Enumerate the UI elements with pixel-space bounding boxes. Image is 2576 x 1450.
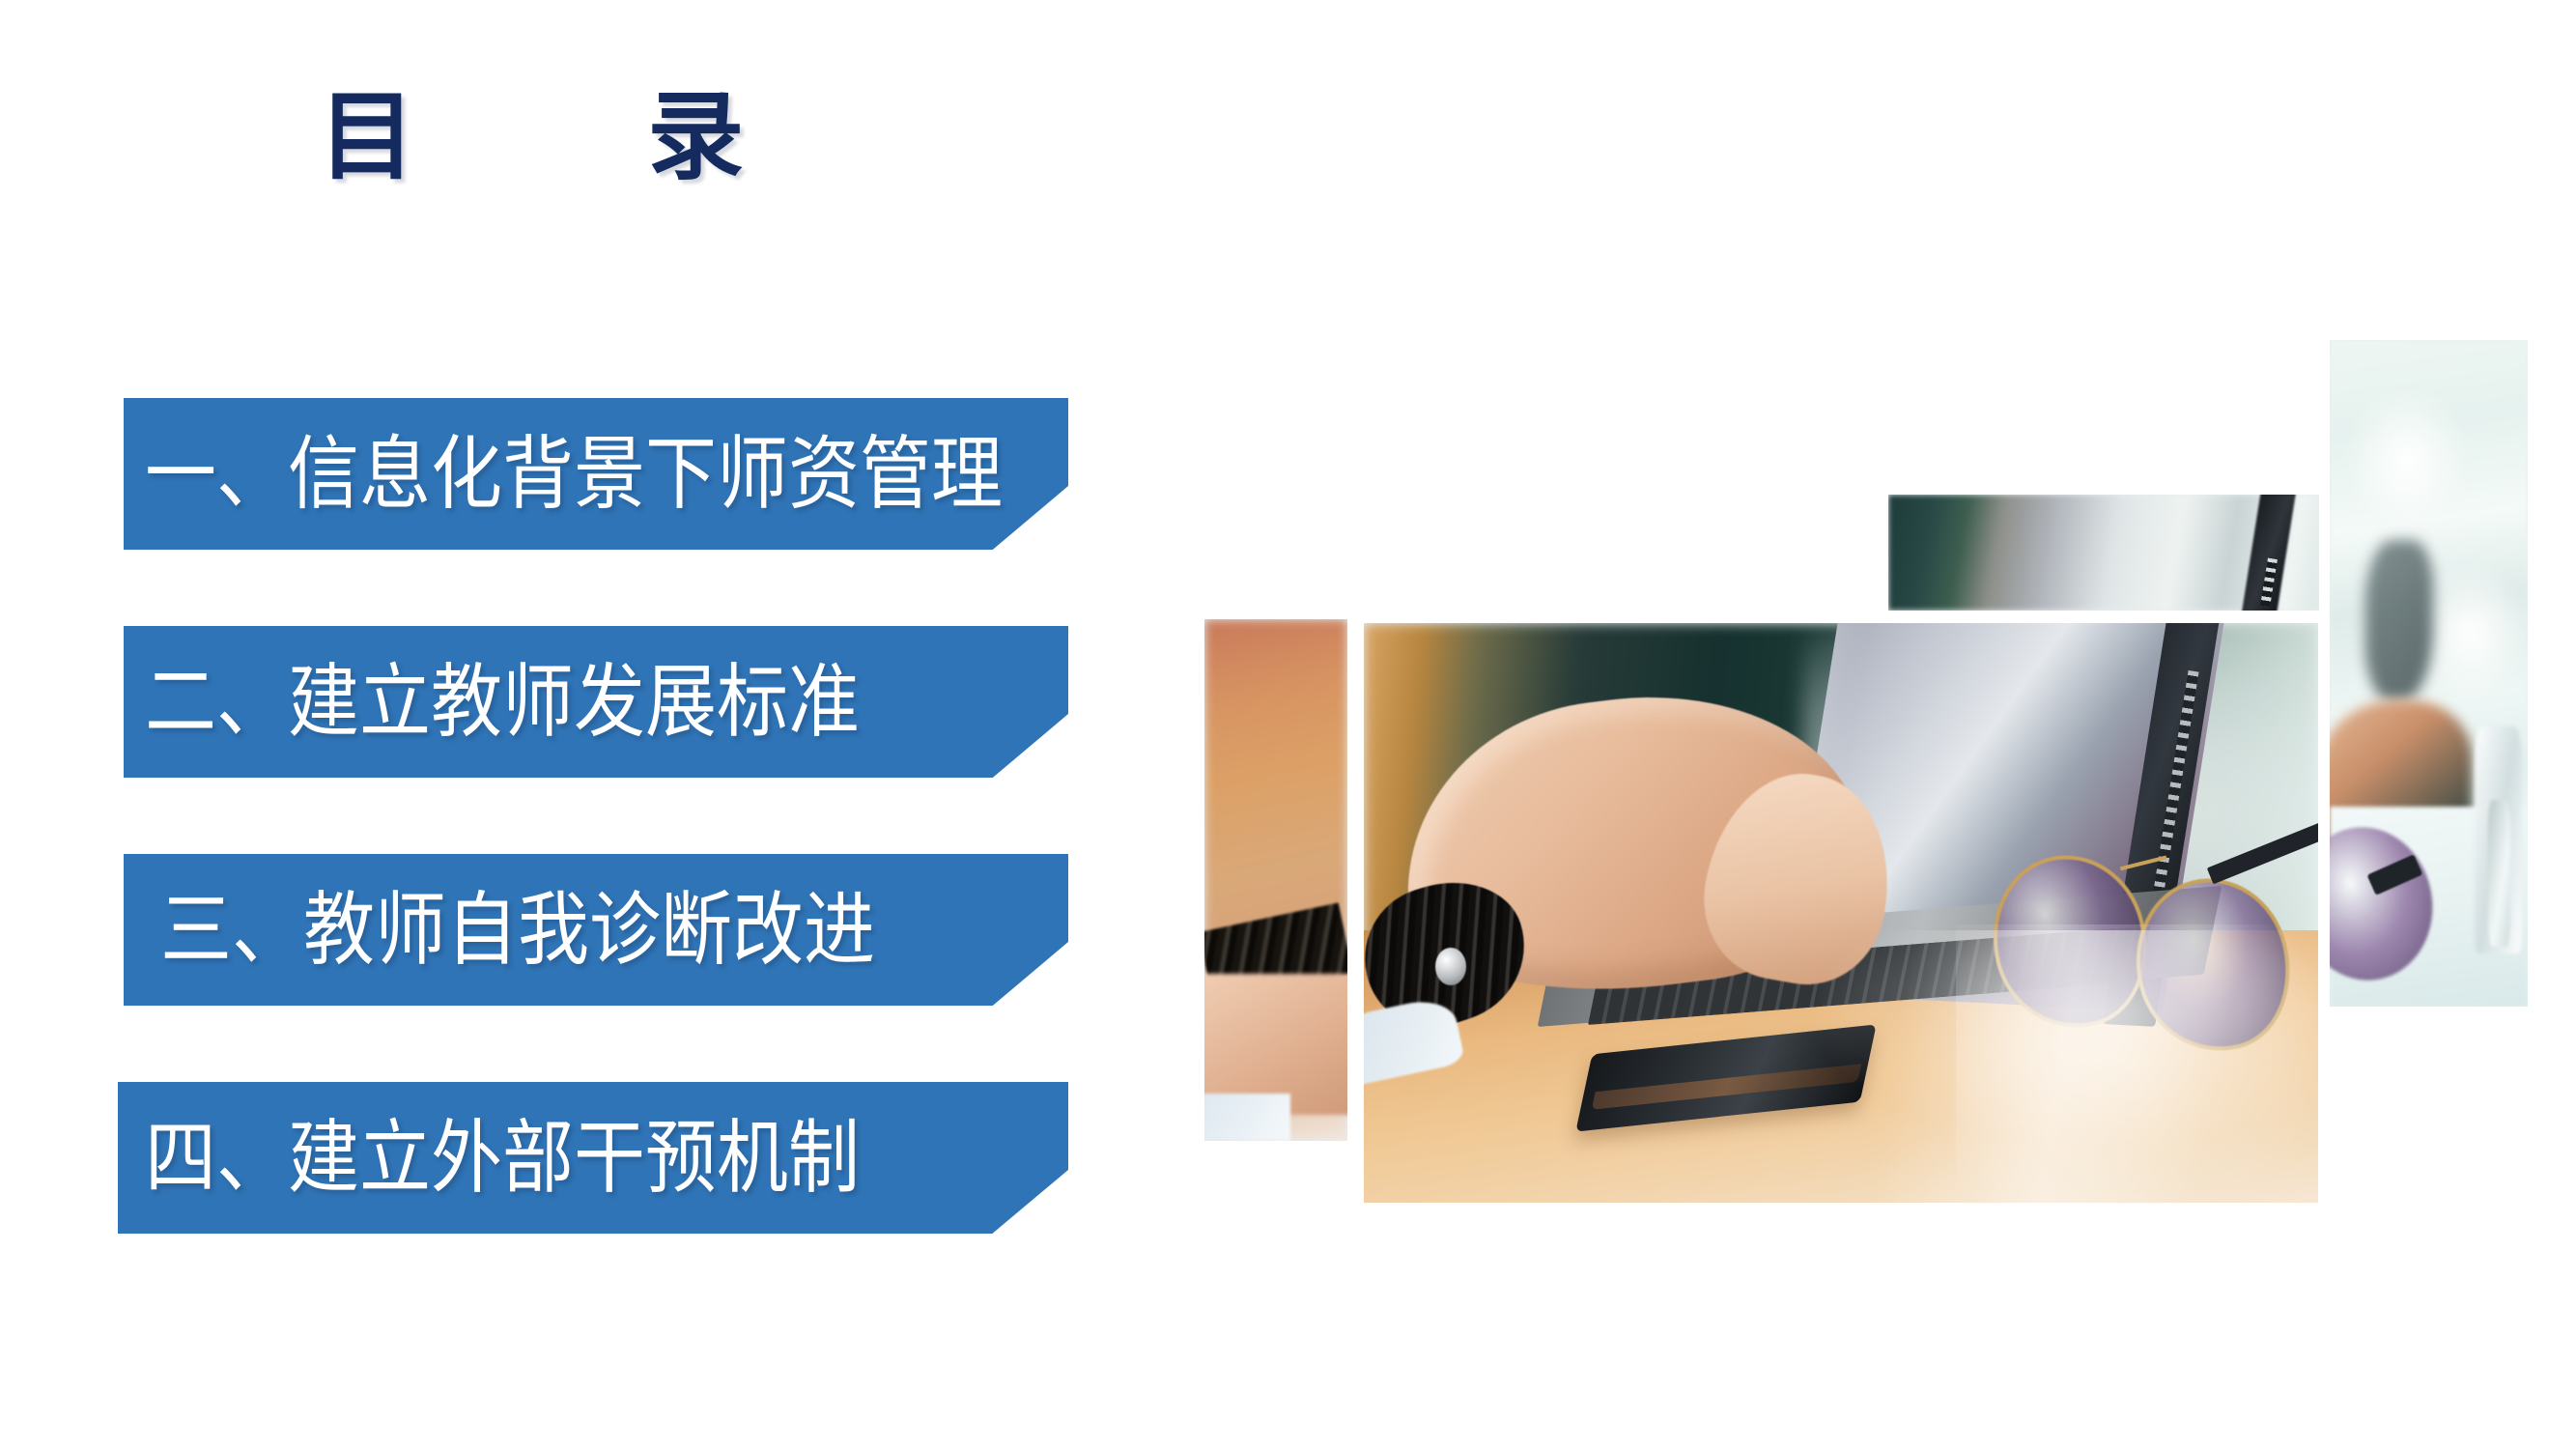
slide-canvas: 目 录 (0, 0, 2576, 1450)
toc-item-1[interactable]: 一、信息化背景下师资管理 (124, 398, 1068, 550)
bokeh-highlight (2345, 386, 2468, 533)
toc-item-2-label: 二、建立教师发展标准 (145, 662, 860, 742)
toc-item-4[interactable]: 四、建立外部干预机制 (118, 1082, 1068, 1234)
light-flare (1956, 924, 2318, 1203)
background-silhouette (2365, 540, 2433, 700)
toc-item-3-label: 三、教师自我诊断改进 (160, 890, 875, 970)
collage-panel-left-strip (1204, 619, 1347, 1141)
glass-object (2488, 800, 2510, 947)
toc-item-4-label: 四、建立外部干预机制 (145, 1118, 860, 1198)
toc-item-3[interactable]: 三、教师自我诊断改进 (124, 854, 1068, 1006)
sleeve-cuff-blur (1204, 1094, 1290, 1141)
toc-item-2[interactable]: 二、建立教师发展标准 (124, 626, 1068, 778)
collage-panel-right-strip (2330, 340, 2528, 1007)
collage-panel-main-photo (1364, 623, 2318, 1203)
collage-panel-top-strip (1888, 495, 2319, 611)
toc-item-1-label: 一、信息化背景下师资管理 (145, 434, 1003, 514)
